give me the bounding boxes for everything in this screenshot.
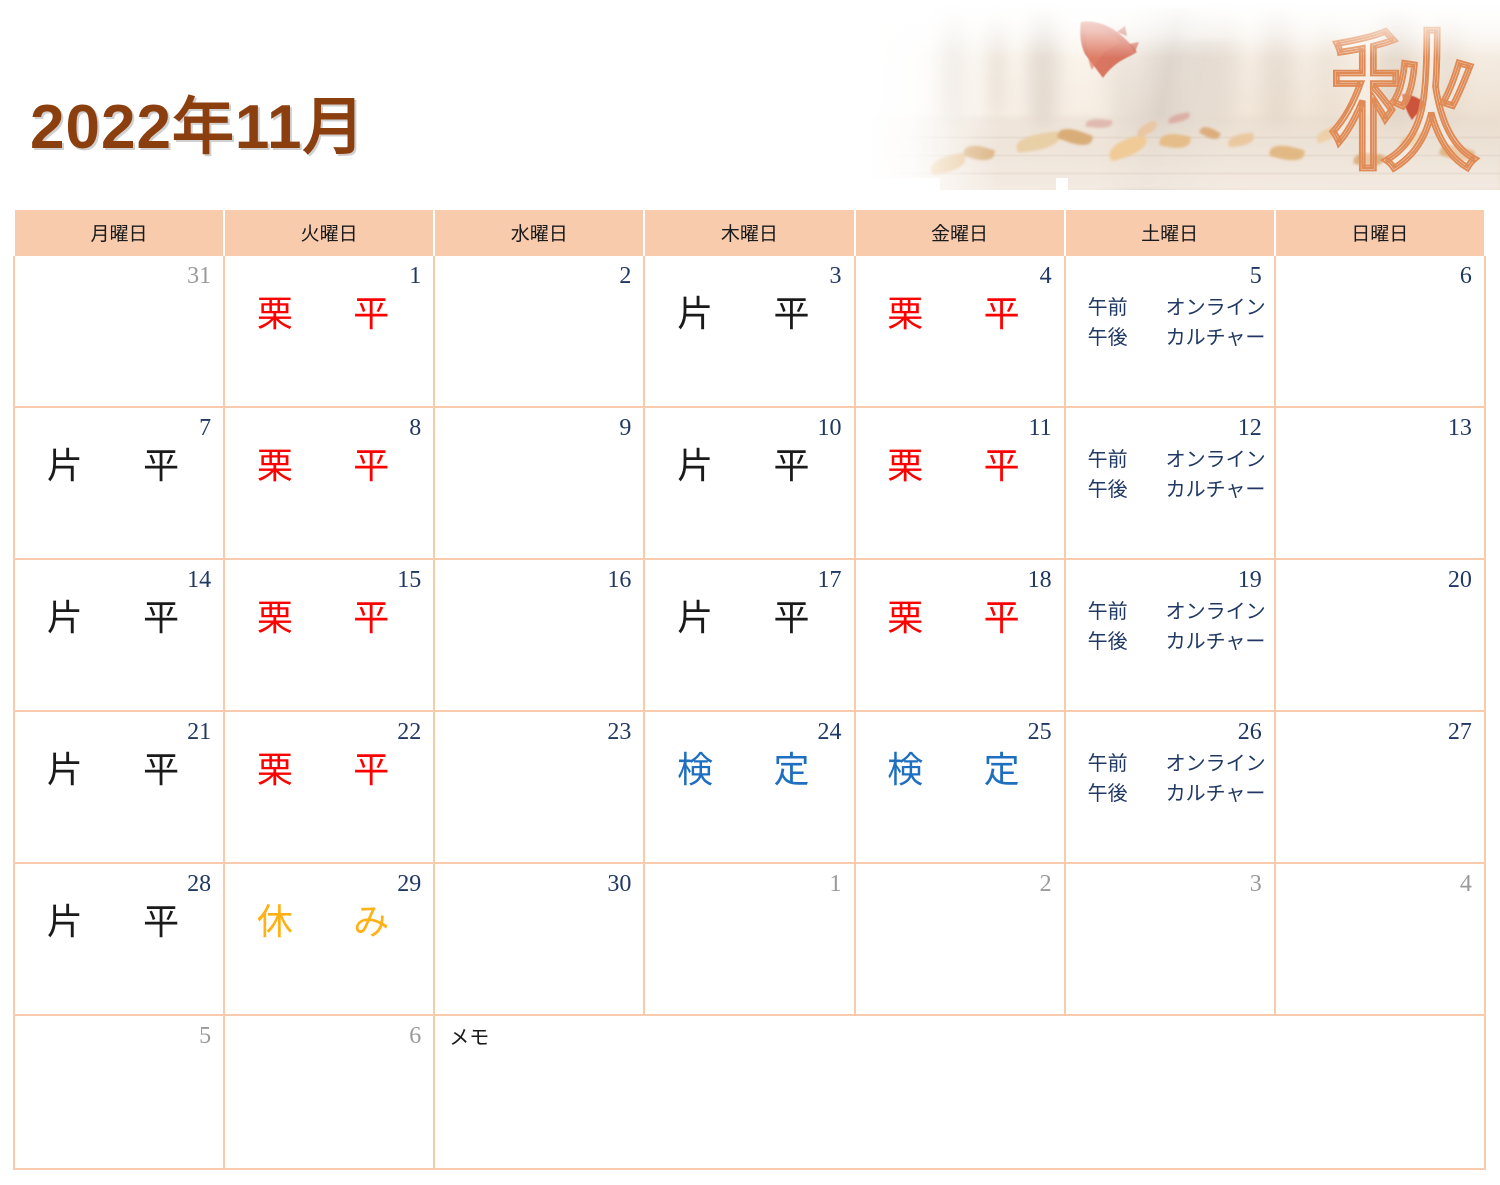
- schedule-time-label: 午前: [1088, 292, 1166, 322]
- calendar-week-row: 14片 平15栗 平1617片 平18栗 平19午前オンライン午後カルチャー20: [14, 559, 1485, 711]
- day-schedule-line: 午後カルチャー: [1088, 626, 1258, 656]
- day-number: 11: [856, 408, 1064, 442]
- day-number: 22: [225, 712, 433, 746]
- weekday-header-1: 火曜日: [224, 209, 434, 255]
- calendar-day-cell[interactable]: 14片 平: [14, 559, 224, 711]
- day-number: 21: [15, 712, 223, 746]
- calendar-day-cell[interactable]: 19午前オンライン午後カルチャー: [1065, 559, 1275, 711]
- banner-fade-top: [868, 0, 1500, 58]
- schedule-time-label: 午前: [1088, 748, 1166, 778]
- schedule-time-label: 午前: [1088, 444, 1166, 474]
- day-number: 26: [1066, 712, 1274, 746]
- day-event-label: 栗 平: [856, 442, 1064, 490]
- calendar-header-row: 月曜日火曜日水曜日木曜日金曜日土曜日日曜日: [14, 209, 1485, 255]
- calendar-day-cell[interactable]: 4: [1275, 863, 1485, 1015]
- day-number: 27: [1276, 712, 1484, 746]
- schedule-time-label: 午後: [1088, 474, 1166, 504]
- day-number: 13: [1276, 408, 1484, 442]
- weekday-header-6: 日曜日: [1275, 209, 1485, 255]
- schedule-event-label: オンライン: [1166, 444, 1266, 474]
- day-event-label: 片 平: [15, 898, 223, 946]
- calendar-day-cell[interactable]: 20: [1275, 559, 1485, 711]
- day-number: 30: [435, 864, 643, 898]
- day-number: 31: [15, 256, 223, 290]
- schedule-event-label: カルチャー: [1166, 322, 1266, 352]
- calendar-day-cell[interactable]: 2: [434, 255, 644, 407]
- day-number: 12: [1066, 408, 1274, 442]
- calendar-week-row: 311栗 平23片 平4栗 平5午前オンライン午後カルチャー6: [14, 255, 1485, 407]
- calendar-day-cell[interactable]: 2: [855, 863, 1065, 1015]
- calendar-day-cell[interactable]: 29休 み: [224, 863, 434, 1015]
- schedule-event-label: オンライン: [1166, 596, 1266, 626]
- day-number: 15: [225, 560, 433, 594]
- weekday-header-4: 金曜日: [855, 209, 1065, 255]
- calendar-day-cell[interactable]: 23: [434, 711, 644, 863]
- day-number: 20: [1276, 560, 1484, 594]
- calendar-day-cell[interactable]: 15栗 平: [224, 559, 434, 711]
- calendar-day-cell[interactable]: 11栗 平: [855, 407, 1065, 559]
- calendar-day-cell[interactable]: 18栗 平: [855, 559, 1065, 711]
- day-number: 5: [15, 1016, 223, 1050]
- day-number: 14: [15, 560, 223, 594]
- calendar-day-cell[interactable]: 3片 平: [644, 255, 854, 407]
- day-number: 24: [645, 712, 853, 746]
- day-schedule-list: 午前オンライン午後カルチャー: [1066, 444, 1274, 504]
- calendar-day-cell[interactable]: 4栗 平: [855, 255, 1065, 407]
- day-number: 2: [856, 864, 1064, 898]
- calendar-week-row: 21片 平22栗 平2324検 定25検 定26午前オンライン午後カルチャー27: [14, 711, 1485, 863]
- calendar-day-cell[interactable]: 28片 平: [14, 863, 224, 1015]
- weekday-header-5: 土曜日: [1065, 209, 1275, 255]
- day-number: 23: [435, 712, 643, 746]
- page-title: 2022年11月: [30, 76, 365, 166]
- day-number: 6: [225, 1016, 433, 1050]
- schedule-event-label: オンライン: [1166, 748, 1266, 778]
- schedule-time-label: 午前: [1088, 596, 1166, 626]
- day-number: 6: [1276, 256, 1484, 290]
- day-number: 9: [435, 408, 643, 442]
- day-number: 8: [225, 408, 433, 442]
- day-schedule-line: 午前オンライン: [1088, 292, 1258, 322]
- day-event-label: 片 平: [15, 594, 223, 642]
- day-schedule-list: 午前オンライン午後カルチャー: [1066, 748, 1274, 808]
- day-schedule-line: 午前オンライン: [1088, 596, 1258, 626]
- calendar-day-cell[interactable]: 27: [1275, 711, 1485, 863]
- day-event-label: 栗 平: [225, 442, 433, 490]
- calendar-week-row: 28片 平29休 み301234: [14, 863, 1485, 1015]
- day-event-label: 栗 平: [856, 594, 1064, 642]
- day-event-label: 片 平: [645, 442, 853, 490]
- day-schedule-line: 午前オンライン: [1088, 748, 1258, 778]
- day-number: 7: [15, 408, 223, 442]
- day-number: 25: [856, 712, 1064, 746]
- banner-bottom-notch: [1056, 178, 1068, 190]
- calendar-week-row: 7片 平8栗 平910片 平11栗 平12午前オンライン午後カルチャー13: [14, 407, 1485, 559]
- weekday-header-2: 水曜日: [434, 209, 644, 255]
- day-number: 1: [225, 256, 433, 290]
- day-number: 3: [645, 256, 853, 290]
- day-number: 28: [15, 864, 223, 898]
- schedule-time-label: 午後: [1088, 626, 1166, 656]
- day-number: 4: [856, 256, 1064, 290]
- day-number: 18: [856, 560, 1064, 594]
- calendar-day-cell[interactable]: 21片 平: [14, 711, 224, 863]
- calendar-day-cell[interactable]: 1栗 平: [224, 255, 434, 407]
- schedule-event-label: カルチャー: [1166, 778, 1266, 808]
- schedule-event-label: カルチャー: [1166, 474, 1266, 504]
- weekday-header-3: 木曜日: [644, 209, 854, 255]
- day-schedule-line: 午後カルチャー: [1088, 474, 1258, 504]
- day-number: 4: [1276, 864, 1484, 898]
- day-number: 29: [225, 864, 433, 898]
- calendar-day-cell[interactable]: 24検 定: [644, 711, 854, 863]
- day-event-label: 片 平: [15, 442, 223, 490]
- day-event-label: 栗 平: [225, 290, 433, 338]
- calendar-day-cell[interactable]: 26午前オンライン午後カルチャー: [1065, 711, 1275, 863]
- calendar-body: 311栗 平23片 平4栗 平5午前オンライン午後カルチャー67片 平8栗 平9…: [14, 255, 1485, 1169]
- day-schedule-line: 午後カルチャー: [1088, 778, 1258, 808]
- calendar-day-cell[interactable]: 16: [434, 559, 644, 711]
- autumn-banner-image: 秋: [868, 0, 1500, 190]
- schedule-event-label: カルチャー: [1166, 626, 1266, 656]
- memo-label: メモ: [435, 1016, 1484, 1050]
- weekday-header-0: 月曜日: [14, 209, 224, 255]
- calendar-day-cell[interactable]: 22栗 平: [224, 711, 434, 863]
- day-number: 19: [1066, 560, 1274, 594]
- calendar-day-cell[interactable]: 10片 平: [644, 407, 854, 559]
- calendar-day-cell[interactable]: 13: [1275, 407, 1485, 559]
- calendar-day-cell[interactable]: 30: [434, 863, 644, 1015]
- banner-bottom-notch: [868, 178, 940, 190]
- day-event-label: 検 定: [856, 746, 1064, 794]
- day-number: 10: [645, 408, 853, 442]
- day-schedule-line: 午後カルチャー: [1088, 322, 1258, 352]
- day-schedule-list: 午前オンライン午後カルチャー: [1066, 292, 1274, 352]
- calendar-day-cell[interactable]: 12午前オンライン午後カルチャー: [1065, 407, 1275, 559]
- day-event-label: 片 平: [15, 746, 223, 794]
- memo-cell[interactable]: メモ: [434, 1015, 1485, 1169]
- day-event-label: 片 平: [645, 594, 853, 642]
- schedule-time-label: 午後: [1088, 322, 1166, 352]
- day-event-label: 栗 平: [856, 290, 1064, 338]
- day-event-label: 休 み: [225, 898, 433, 946]
- calendar-day-cell[interactable]: 25検 定: [855, 711, 1065, 863]
- calendar-day-cell[interactable]: 31: [14, 255, 224, 407]
- calendar-day-cell[interactable]: 5: [14, 1015, 224, 1169]
- calendar-day-cell[interactable]: 6: [224, 1015, 434, 1169]
- day-number: 16: [435, 560, 643, 594]
- day-number: 1: [645, 864, 853, 898]
- calendar-day-cell[interactable]: 6: [1275, 255, 1485, 407]
- calendar-day-cell[interactable]: 1: [644, 863, 854, 1015]
- calendar-day-cell[interactable]: 17片 平: [644, 559, 854, 711]
- day-number: 3: [1066, 864, 1274, 898]
- schedule-time-label: 午後: [1088, 778, 1166, 808]
- day-number: 2: [435, 256, 643, 290]
- day-schedule-line: 午前オンライン: [1088, 444, 1258, 474]
- day-event-label: 栗 平: [225, 594, 433, 642]
- day-event-label: 検 定: [645, 746, 853, 794]
- day-event-label: 片 平: [645, 290, 853, 338]
- schedule-event-label: オンライン: [1166, 292, 1266, 322]
- day-schedule-list: 午前オンライン午後カルチャー: [1066, 596, 1274, 656]
- calendar-day-cell[interactable]: 5午前オンライン午後カルチャー: [1065, 255, 1275, 407]
- day-number: 17: [645, 560, 853, 594]
- day-number: 5: [1066, 256, 1274, 290]
- calendar-day-cell[interactable]: 3: [1065, 863, 1275, 1015]
- calendar-memo-row: 56メモ: [14, 1015, 1485, 1169]
- day-event-label: 栗 平: [225, 746, 433, 794]
- calendar-day-cell[interactable]: 7片 平: [14, 407, 224, 559]
- calendar-table: 月曜日火曜日水曜日木曜日金曜日土曜日日曜日 311栗 平23片 平4栗 平5午前…: [13, 208, 1486, 1170]
- calendar-day-cell[interactable]: 8栗 平: [224, 407, 434, 559]
- calendar-day-cell[interactable]: 9: [434, 407, 644, 559]
